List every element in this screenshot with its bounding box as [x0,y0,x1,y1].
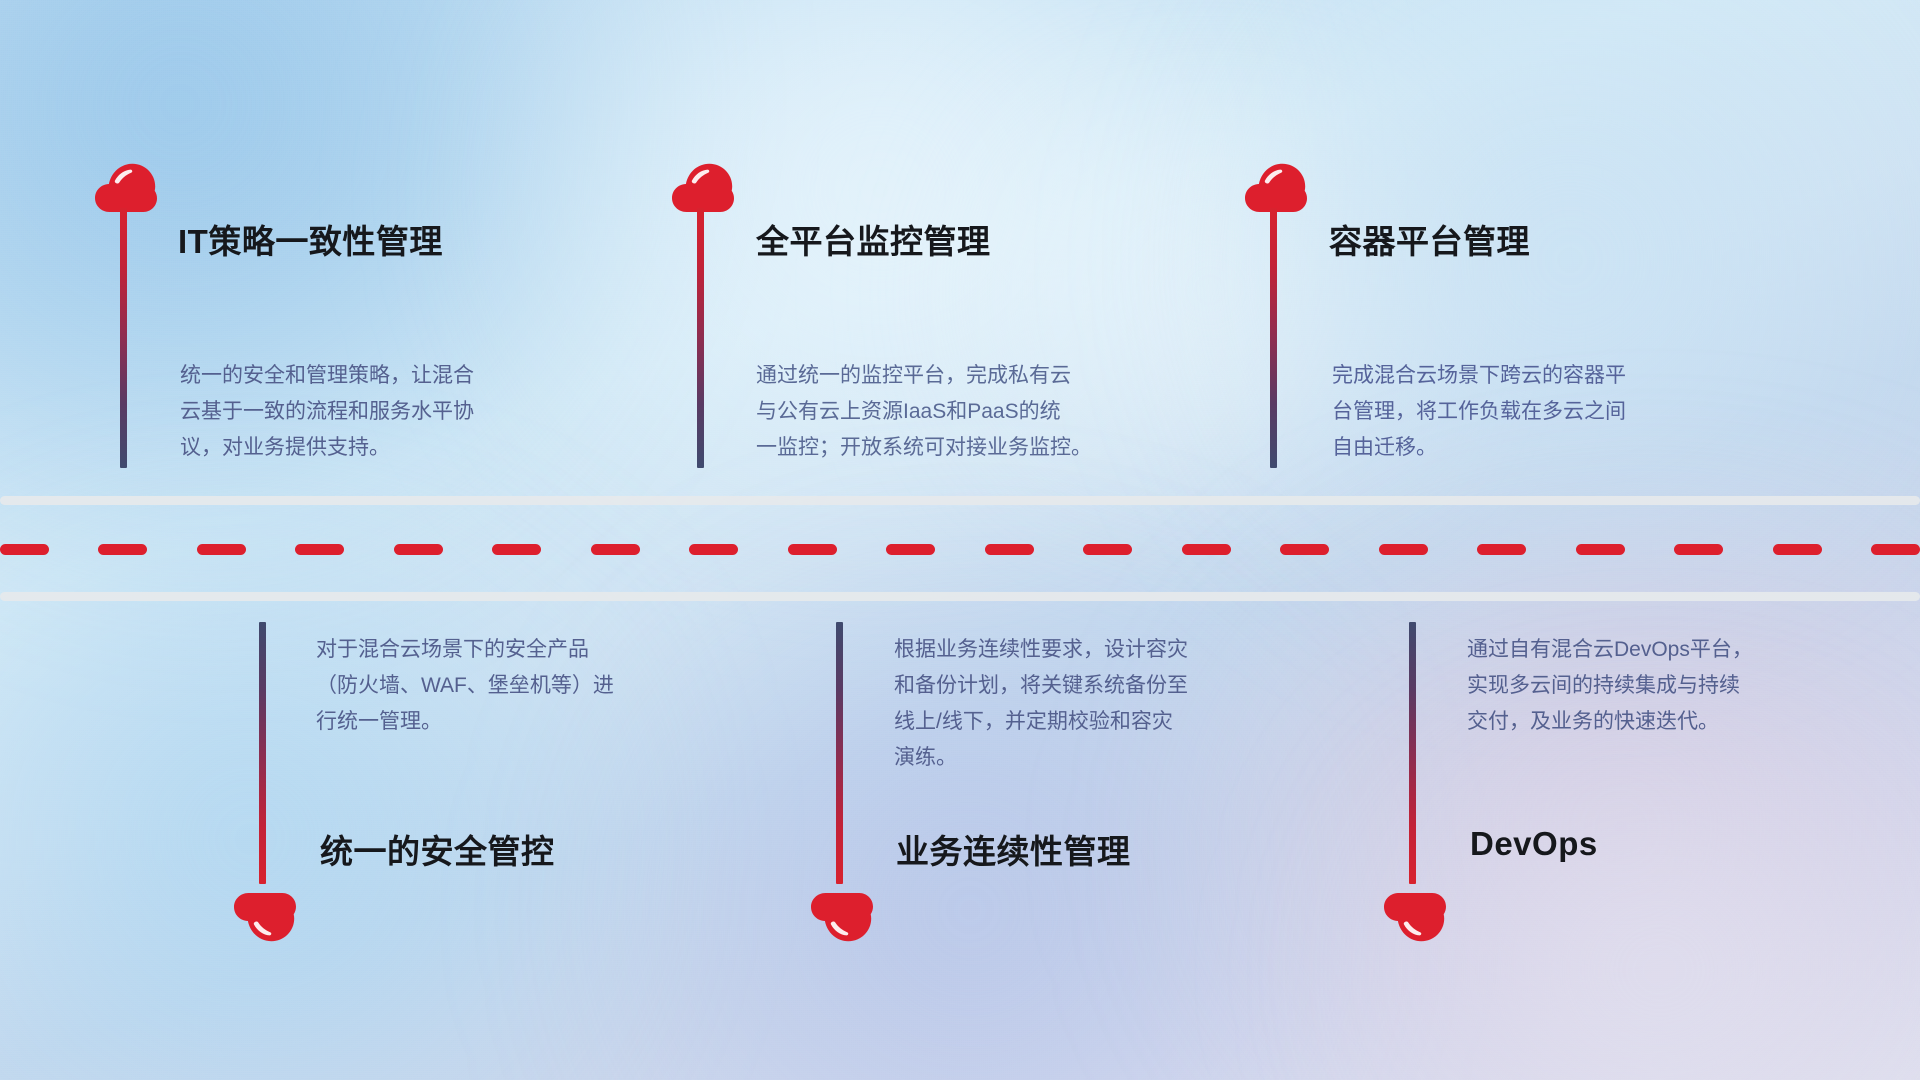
top-heading-1: IT策略一致性管理 [178,215,443,263]
divider-dashed-line [0,544,1920,555]
divider-dash [1871,544,1920,555]
divider-dash [1477,544,1526,555]
divider-dash [1674,544,1723,555]
column-stem [836,622,843,884]
bottom-body-1: 对于混合云场景下的安全产品 （防火墙、WAF、堡垒机等）进 行统一管理。 [316,632,746,740]
cloud-icon [672,163,734,213]
top-body-1: 统一的安全和管理策略，让混合 云基于一致的流程和服务水平协 议，对业务提供支持。 [180,358,610,466]
top-heading-2: 全平台监控管理 [756,215,991,263]
divider-dash [1280,544,1329,555]
divider-dash [0,544,49,555]
cloud-icon [95,163,157,213]
bottom-heading-3: DevOps [1470,825,1598,863]
divider-dash [98,544,147,555]
column-stem [1270,208,1277,468]
divider-dash [886,544,935,555]
divider-dash [394,544,443,555]
divider-dash [788,544,837,555]
divider-dash [1773,544,1822,555]
divider-dash [1083,544,1132,555]
cloud-icon [1384,892,1446,942]
bottom-body-3: 通过自有混合云DevOps平台， 实现多云间的持续集成与持续 交付，及业务的快速… [1467,632,1907,740]
divider-dash [295,544,344,555]
divider-dash [985,544,1034,555]
bottom-body-2: 根据业务连续性要求，设计容灾 和备份计划，将关键系统备份至 线上/线下，并定期校… [894,632,1334,776]
divider-dash [197,544,246,555]
divider-dash [492,544,541,555]
bottom-heading-2: 业务连续性管理 [896,825,1131,873]
divider-dash [1182,544,1231,555]
column-stem [259,622,266,884]
column-stem [1409,622,1416,884]
column-stem [120,208,127,468]
cloud-icon [234,892,296,942]
top-body-3: 完成混合云场景下跨云的容器平 台管理，将工作负载在多云之间 自由迁移。 [1332,358,1772,466]
divider-dash [1379,544,1428,555]
bottom-heading-1: 统一的安全管控 [320,825,555,873]
divider-dash [591,544,640,555]
infographic-canvas: IT策略一致性管理 统一的安全和管理策略，让混合 云基于一致的流程和服务水平协 … [0,0,1920,1080]
column-stem [697,208,704,468]
top-body-2: 通过统一的监控平台，完成私有云 与公有云上资源IaaS和PaaS的统 一监控；开… [756,358,1216,466]
cloud-icon [811,892,873,942]
divider-rule-bottom [0,592,1920,601]
cloud-icon [1245,163,1307,213]
divider-rule-top [0,496,1920,505]
divider-dash [1576,544,1625,555]
divider-dash [689,544,738,555]
top-heading-3: 容器平台管理 [1329,215,1530,263]
